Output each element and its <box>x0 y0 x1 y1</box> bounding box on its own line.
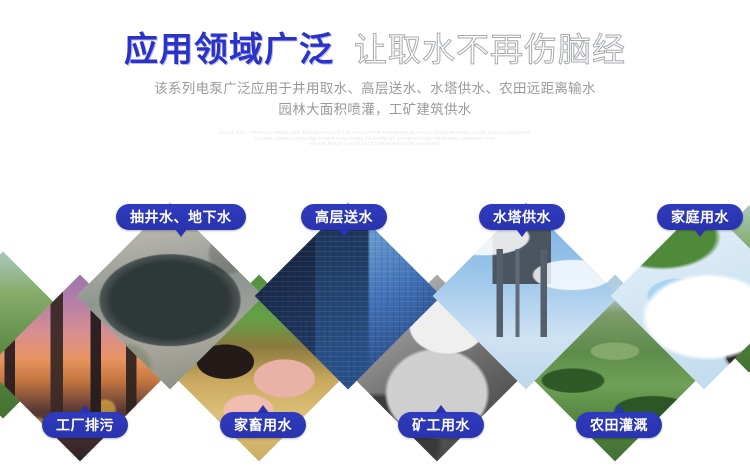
subtitle-block: 该系列电泵广泛应用于井用取水、高层送水、水塔供水、农田远距离输水 园林大面积喷灌… <box>0 79 750 121</box>
diamond-label-miner[interactable]: 矿工用水 <box>398 412 484 438</box>
diamond-label-car-text: 家庭用水 <box>671 207 729 227</box>
diamond-label-factory[interactable]: 工厂排污 <box>42 412 128 438</box>
diamond-label-towers-text: 高层送水 <box>315 207 373 227</box>
diamond-label-towers[interactable]: 高层送水 <box>301 204 387 230</box>
diamond-label-farm[interactable]: 农田灌溉 <box>576 412 662 438</box>
title-main-text: 应用领域广泛 <box>124 22 334 71</box>
fineprint-line-3: VISION BEAUTY INTELLECT UNKNOWNLOWW ACHI… <box>0 141 750 147</box>
page-title: 应用领域广泛 让取水不再伤脑经 <box>0 0 750 71</box>
pointer-up-icon <box>613 405 625 413</box>
pointer-down-icon <box>516 229 528 237</box>
diamond-label-factory-text: 工厂排污 <box>56 415 114 435</box>
pointer-down-icon <box>694 229 706 237</box>
diamond-label-water-tower-text: 水塔供水 <box>493 207 551 227</box>
title-accent-text: 让取水不再伤脑经 <box>354 23 626 71</box>
application-diamond-grid: 抽井水、地下水 高层送水 水塔供水 家庭用水 工厂排污 家畜用水 矿工用水 <box>0 190 750 468</box>
fineprint-block: SALES HAS A PERFECT MODELING INTEGRATION… <box>0 130 750 147</box>
diamond-label-well-text: 抽井水、地下水 <box>130 207 232 227</box>
diamond-label-well[interactable]: 抽井水、地下水 <box>116 204 246 230</box>
diamond-label-farm-text: 农田灌溉 <box>590 415 648 435</box>
banner-header: 应用领域广泛 让取水不再伤脑经 该系列电泵广泛应用于井用取水、高层送水、水塔供水… <box>0 0 750 147</box>
promo-banner: 应用领域广泛 让取水不再伤脑经 该系列电泵广泛应用于井用取水、高层送水、水塔供水… <box>0 0 750 468</box>
diamond-label-water-tower[interactable]: 水塔供水 <box>479 204 565 230</box>
subtitle-line-2: 园林大面积喷灌，工矿建筑供水 <box>0 100 750 121</box>
pointer-up-icon <box>435 405 447 413</box>
diamond-label-pigs[interactable]: 家畜用水 <box>220 412 306 438</box>
diamond-label-pigs-text: 家畜用水 <box>234 415 292 435</box>
pointer-down-icon <box>338 229 350 237</box>
pointer-down-icon <box>175 229 187 237</box>
pointer-up-icon <box>79 405 91 413</box>
subtitle-line-1: 该系列电泵广泛应用于井用取水、高层送水、水塔供水、农田远距离输水 <box>0 79 750 100</box>
pointer-up-icon <box>257 405 269 413</box>
diamond-label-miner-text: 矿工用水 <box>412 415 470 435</box>
diamond-label-car[interactable]: 家庭用水 <box>657 204 743 230</box>
